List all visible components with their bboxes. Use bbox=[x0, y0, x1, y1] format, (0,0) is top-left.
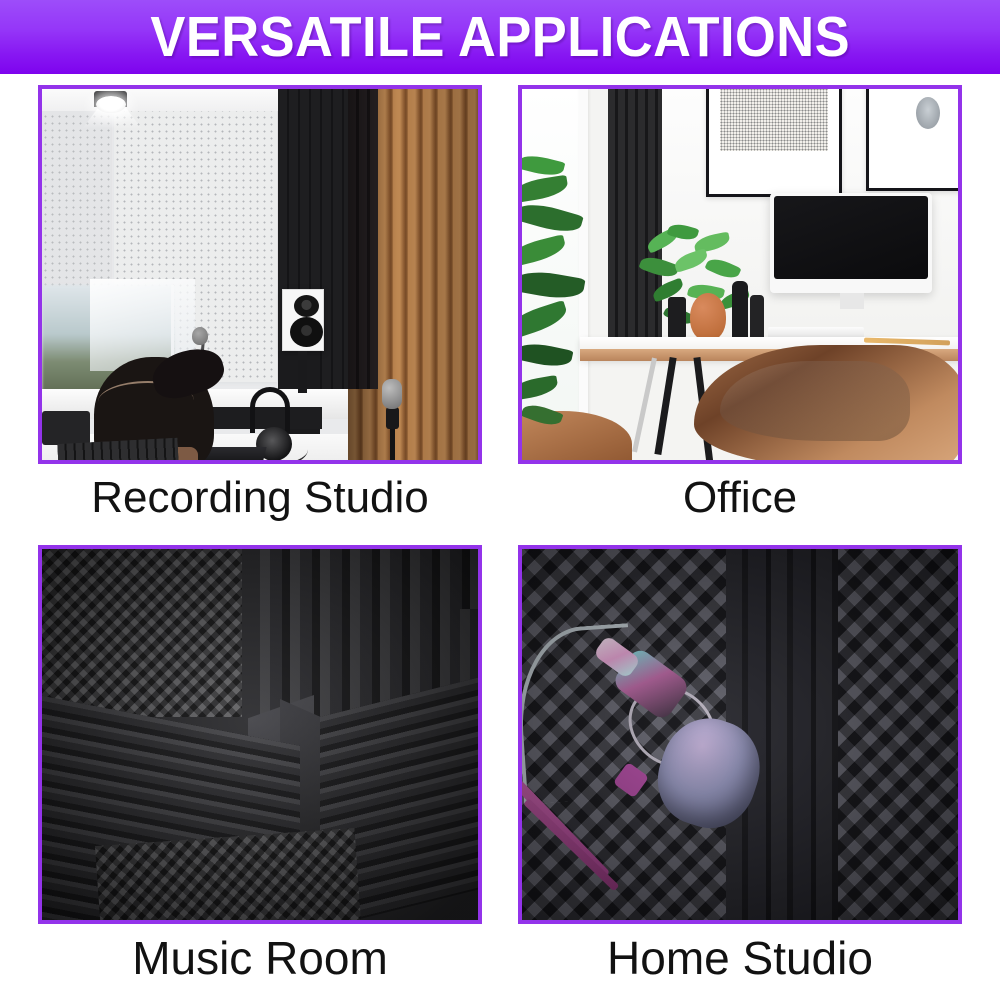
monitor-stand bbox=[840, 293, 864, 309]
wall-art-image-1 bbox=[720, 89, 828, 151]
music-room-photo-frame[interactable] bbox=[38, 545, 482, 924]
caption-home-studio: Home Studio bbox=[518, 930, 962, 986]
home-studio-photo bbox=[522, 549, 958, 920]
recording-studio-photo-frame[interactable] bbox=[38, 85, 482, 464]
speaker-tweeter bbox=[294, 295, 319, 317]
monitor-screen bbox=[774, 196, 928, 279]
plant-leaf bbox=[522, 300, 570, 340]
speaker-stand bbox=[298, 351, 307, 393]
ceiling-spotlight-bulb bbox=[96, 96, 126, 113]
microphone-left bbox=[192, 327, 208, 345]
plant-leaf bbox=[704, 255, 741, 283]
gallery-item-recording-studio[interactable]: Recording Studio bbox=[38, 85, 482, 526]
photo-vignette bbox=[522, 549, 958, 920]
gallery-item-office[interactable]: Office bbox=[518, 85, 962, 526]
microphone-right-body bbox=[386, 407, 399, 429]
home-studio-photo-frame[interactable] bbox=[518, 545, 962, 924]
photo-vignette bbox=[42, 549, 478, 920]
wall-art-image-2 bbox=[916, 97, 940, 129]
recording-studio-photo bbox=[42, 89, 478, 460]
terracotta-vase bbox=[690, 293, 726, 341]
gallery-item-home-studio[interactable]: Home Studio bbox=[518, 545, 962, 986]
black-vase-tall bbox=[732, 281, 748, 341]
office-chair-highlight bbox=[720, 361, 910, 441]
floor-plant bbox=[522, 149, 600, 439]
midi-controller bbox=[42, 411, 90, 445]
application-gallery-grid: Recording Studio bbox=[0, 74, 1000, 981]
office-photo bbox=[522, 89, 958, 460]
plant-leaf bbox=[522, 198, 584, 237]
headphones-headband bbox=[250, 387, 290, 433]
wooden-slat-wall-shading bbox=[348, 89, 478, 460]
plant-leaf bbox=[522, 375, 559, 401]
page-header-banner: VERSATILE APPLICATIONS bbox=[0, 0, 1000, 74]
caption-office: Office bbox=[518, 470, 962, 526]
page-title: VERSATILE APPLICATIONS bbox=[150, 9, 850, 66]
plant-leaf bbox=[522, 267, 586, 303]
plant-leaf bbox=[522, 339, 573, 370]
black-vase-short bbox=[750, 295, 764, 341]
caption-music-room: Music Room bbox=[38, 930, 482, 986]
plant-leaf bbox=[522, 234, 568, 267]
microphone-right bbox=[382, 379, 402, 409]
music-room-photo bbox=[42, 549, 478, 920]
plant-leaf bbox=[638, 253, 679, 281]
gallery-item-music-room[interactable]: Music Room bbox=[38, 545, 482, 986]
black-vase-left bbox=[668, 297, 686, 341]
caption-recording-studio: Recording Studio bbox=[38, 470, 482, 526]
plant-leaf bbox=[673, 248, 710, 273]
plant-leaf bbox=[522, 175, 569, 204]
studio-ceiling bbox=[42, 89, 278, 111]
plant-leaf bbox=[522, 401, 564, 430]
wall-art-frame-2 bbox=[866, 89, 958, 191]
microphone-stand-right bbox=[390, 427, 395, 460]
speaker-woofer bbox=[290, 317, 323, 347]
office-photo-frame[interactable] bbox=[518, 85, 962, 464]
